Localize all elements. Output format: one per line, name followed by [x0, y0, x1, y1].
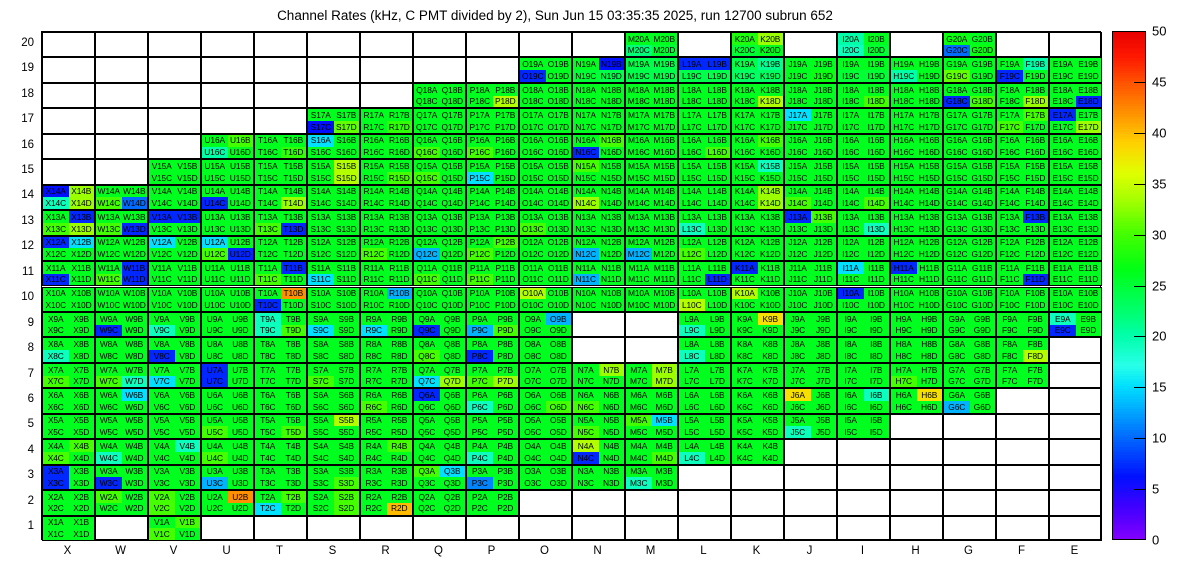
channel-quadrant: S17B	[334, 109, 360, 121]
channel-quadrant: V8B	[175, 338, 201, 350]
channel-quadrant: L18C	[679, 96, 705, 108]
channel-quadrant: X8C	[43, 350, 69, 362]
channel-quadrant: I8C	[838, 350, 864, 362]
channel-quadrant: I13C	[838, 223, 864, 235]
channel-quadrant: W2C	[96, 503, 122, 515]
pmt-cell: S14AS14BS14CS14D	[307, 185, 360, 210]
channel-quadrant: K20C	[732, 45, 758, 57]
channel-quadrant: L8B	[705, 338, 731, 350]
channel-quadrant: V10C	[149, 299, 175, 311]
channel-quadrant: X13C	[43, 223, 69, 235]
channel-quadrant: T10A	[255, 288, 281, 300]
channel-quadrant: K8A	[732, 338, 758, 350]
channel-quadrant: M11D	[652, 274, 678, 286]
channel-quadrant: X6A	[43, 389, 69, 401]
pmt-cell: Q3AQ3BQ3CQ3D	[413, 465, 466, 490]
pmt-cell-empty	[95, 83, 148, 108]
channel-quadrant: V12D	[175, 248, 201, 260]
channel-quadrant: V13D	[175, 223, 201, 235]
channel-quadrant: O9D	[546, 325, 572, 337]
channel-quadrant: L13D	[705, 223, 731, 235]
pmt-cell-empty	[42, 134, 95, 159]
channel-quadrant: J6C	[785, 401, 811, 413]
channel-quadrant: V12C	[149, 248, 175, 260]
channel-quadrant: I14C	[838, 197, 864, 209]
channel-quadrant: V3C	[149, 477, 175, 489]
pmt-cell: V5AV5BV5CV5D	[148, 414, 201, 439]
pmt-cell: E19AE19BE19CE19D	[1049, 57, 1102, 82]
channel-quadrant: H11A	[891, 262, 917, 274]
pmt-cell: F13AF13BF13CF13D	[996, 210, 1049, 235]
channel-quadrant: O15D	[546, 172, 572, 184]
channel-quadrant: E10D	[1076, 299, 1102, 311]
y-axis-tick-2: 2	[0, 495, 34, 507]
channel-quadrant: K8D	[758, 350, 784, 362]
channel-quadrant: V12A	[149, 237, 175, 249]
channel-quadrant: K16C	[732, 147, 758, 159]
channel-quadrant: I10C	[838, 299, 864, 311]
channel-quadrant: K7B	[758, 364, 784, 376]
channel-quadrant: J14A	[785, 186, 811, 198]
channel-quadrant: H16B	[917, 135, 943, 147]
channel-quadrant: J19B	[811, 58, 837, 70]
channel-quadrant: X1C	[43, 528, 69, 540]
pmt-cell-empty	[784, 439, 837, 464]
channel-quadrant: V11D	[175, 274, 201, 286]
channel-quadrant: U10D	[228, 299, 254, 311]
channel-quadrant: G13C	[944, 223, 970, 235]
channel-quadrant: P12C	[467, 248, 493, 260]
channel-quadrant: E10B	[1076, 288, 1102, 300]
channel-quadrant: O17C	[520, 121, 546, 133]
pmt-cell-empty	[996, 439, 1049, 464]
pmt-cell: P18AP18BP18CP18D	[466, 83, 519, 108]
pmt-cell-empty	[572, 490, 625, 515]
channel-quadrant: N5A	[573, 415, 599, 427]
channel-quadrant: L11A	[679, 262, 705, 274]
pmt-cell: M11AM11BM11CM11D	[625, 261, 678, 286]
channel-quadrant: G20A	[944, 33, 970, 45]
channel-quadrant: J9B	[811, 313, 837, 325]
pmt-cell: N12AN12BN12CN12D	[572, 236, 625, 261]
pmt-cell: J18AJ18BJ18CJ18D	[784, 83, 837, 108]
channel-quadrant: U15A	[202, 160, 228, 172]
channel-quadrant: W11A	[96, 262, 122, 274]
channel-quadrant: T10D	[281, 299, 307, 311]
channel-quadrant: U2B	[228, 491, 254, 503]
channel-quadrant: M19D	[652, 70, 678, 82]
pmt-cell: H17AH17BH17CH17D	[890, 108, 943, 133]
pmt-cell: I11AI11BI11CI11D	[837, 261, 890, 286]
channel-quadrant: L7B	[705, 364, 731, 376]
channel-quadrant: X11C	[43, 274, 69, 286]
chart-title: Channel Rates (kHz, C PMT divided by 2),…	[0, 8, 1110, 23]
channel-quadrant: H11C	[891, 274, 917, 286]
channel-quadrant: Q10C	[414, 299, 440, 311]
channel-quadrant: K4D	[758, 452, 784, 464]
pmt-cell: O13AO13BO13CO13D	[519, 210, 572, 235]
channel-quadrant: O6D	[546, 401, 572, 413]
channel-quadrant: L15D	[705, 172, 731, 184]
channel-quadrant: X10B	[69, 288, 95, 300]
pmt-cell: J14AJ14BJ14CJ14D	[784, 185, 837, 210]
channel-quadrant: S10C	[308, 299, 334, 311]
channel-quadrant: P16A	[467, 135, 493, 147]
channel-quadrant: F8C	[997, 350, 1023, 362]
channel-quadrant: G6C	[944, 401, 970, 413]
pmt-cell: R17AR17BR17CR17D	[360, 108, 413, 133]
pmt-cell-empty	[890, 490, 943, 515]
channel-quadrant: Q3A	[414, 466, 440, 478]
channel-quadrant: T8C	[255, 350, 281, 362]
pmt-cell: M20AM20BM20CM20D	[625, 32, 678, 57]
channel-quadrant: L17C	[679, 121, 705, 133]
channel-quadrant: P10D	[493, 299, 519, 311]
pmt-cell-empty	[996, 465, 1049, 490]
channel-quadrant: Q12B	[440, 237, 466, 249]
channel-quadrant: U16D	[228, 147, 254, 159]
channel-quadrant: P12A	[467, 237, 493, 249]
pmt-cell: P10AP10BP10CP10D	[466, 287, 519, 312]
channel-quadrant: V3B	[175, 466, 201, 478]
x-axis-tick-R: R	[359, 545, 412, 557]
x-axis-tick-I: I	[836, 545, 889, 557]
channel-quadrant: P11D	[493, 274, 519, 286]
channel-quadrant: V7A	[149, 364, 175, 376]
channel-quadrant: N10C	[573, 299, 599, 311]
pmt-cell: T5AT5BT5CT5D	[254, 414, 307, 439]
channel-quadrant: Q12A	[414, 237, 440, 249]
channel-quadrant: G13A	[944, 211, 970, 223]
channel-quadrant: I19C	[838, 70, 864, 82]
channel-quadrant: H6D	[917, 401, 943, 413]
channel-quadrant: M4A	[626, 440, 652, 452]
pmt-cell: Q15AQ15BQ15CQ15D	[413, 159, 466, 184]
channel-quadrant: O7B	[546, 364, 572, 376]
channel-quadrant: W10C	[96, 299, 122, 311]
channel-quadrant: N4A	[573, 440, 599, 452]
channel-quadrant: U6B	[228, 389, 254, 401]
channel-quadrant: N19B	[599, 58, 625, 70]
channel-quadrant: R9B	[387, 313, 413, 325]
channel-quadrant: O3C	[520, 477, 546, 489]
channel-quadrant: F9C	[997, 325, 1023, 337]
channel-quadrant: P11C	[467, 274, 493, 286]
channel-quadrant: N12D	[599, 248, 625, 260]
y-axis-tick-19: 19	[0, 62, 34, 74]
channel-quadrant: R11B	[387, 262, 413, 274]
channel-quadrant: G16C	[944, 147, 970, 159]
channel-quadrant: S2B	[334, 491, 360, 503]
channel-quadrant: N7B	[599, 364, 625, 376]
pmt-cell: T12AT12BT12CT12D	[254, 236, 307, 261]
channel-quadrant: R8D	[387, 350, 413, 362]
channel-quadrant: S14B	[334, 186, 360, 198]
channel-quadrant: P13B	[493, 211, 519, 223]
channel-quadrant: G15A	[944, 160, 970, 172]
y-axis-tick-11: 11	[0, 266, 34, 278]
channel-quadrant: G10B	[970, 288, 996, 300]
channel-quadrant: J17D	[811, 121, 837, 133]
channel-quadrant: X12C	[43, 248, 69, 260]
channel-quadrant: N13D	[599, 223, 625, 235]
pmt-cell: G6AG6BG6CG6D	[943, 388, 996, 413]
channel-quadrant: H15C	[891, 172, 917, 184]
channel-quadrant: K12B	[758, 237, 784, 249]
channel-quadrant: R17A	[361, 109, 387, 121]
pmt-cell: Q6AQ6BQ6CQ6D	[413, 388, 466, 413]
channel-quadrant: I18A	[838, 84, 864, 96]
channel-quadrant: K20A	[732, 33, 758, 45]
channel-quadrant: F8A	[997, 338, 1023, 350]
channel-quadrant: V15C	[149, 172, 175, 184]
pmt-cell: T15AT15BT15CT15D	[254, 159, 307, 184]
channel-quadrant: X2A	[43, 491, 69, 503]
channel-quadrant: U16B	[228, 135, 254, 147]
channel-quadrant: V1C	[149, 528, 175, 540]
channel-quadrant: H10A	[891, 288, 917, 300]
channel-quadrant: R10A	[361, 288, 387, 300]
channel-quadrant: U4D	[228, 452, 254, 464]
channel-quadrant: E17A	[1050, 109, 1076, 121]
pmt-cell: J5AJ5BJ5CJ5D	[784, 414, 837, 439]
pmt-cell: R6AR6BR6CR6D	[360, 388, 413, 413]
channel-quadrant: W8A	[96, 338, 122, 350]
channel-quadrant: L19B	[705, 58, 731, 70]
pmt-cell: M14AM14BM14CM14D	[625, 185, 678, 210]
channel-quadrant: W3C	[96, 477, 122, 489]
channel-quadrant: G7A	[944, 364, 970, 376]
channel-quadrant: G7C	[944, 376, 970, 388]
channel-quadrant: V1A	[149, 517, 175, 529]
pmt-cell: Q8AQ8BQ8CQ8D	[413, 337, 466, 362]
channel-quadrant: P10B	[493, 288, 519, 300]
pmt-cell-empty	[360, 32, 413, 57]
pmt-cell: P17AP17BP17CP17D	[466, 108, 519, 133]
channel-quadrant: U6D	[228, 401, 254, 413]
channel-quadrant: O16A	[520, 135, 546, 147]
channel-quadrant: L11B	[705, 262, 731, 274]
channel-quadrant: N5B	[599, 415, 625, 427]
channel-quadrant: J8C	[785, 350, 811, 362]
channel-quadrant: V5A	[149, 415, 175, 427]
channel-quadrant: T16A	[255, 135, 281, 147]
channel-quadrant: M3C	[626, 477, 652, 489]
pmt-cell: I17AI17BI17CI17D	[837, 108, 890, 133]
channel-quadrant: L8A	[679, 338, 705, 350]
channel-quadrant: H17D	[917, 121, 943, 133]
channel-quadrant: Q6D	[440, 401, 466, 413]
channel-quadrant: N19A	[573, 58, 599, 70]
colorbar-tick	[1134, 387, 1146, 388]
pmt-cell-empty	[784, 32, 837, 57]
channel-quadrant: M18C	[626, 96, 652, 108]
pmt-cell: K19AK19BK19CK19D	[731, 57, 784, 82]
channel-quadrant: L5D	[705, 426, 731, 438]
channel-quadrant: R14A	[361, 186, 387, 198]
channel-quadrant: U13C	[202, 223, 228, 235]
channel-quadrant: Q3D	[440, 477, 466, 489]
channel-quadrant: E9B	[1076, 313, 1102, 325]
channel-quadrant: Q8D	[440, 350, 466, 362]
channel-quadrant: W4C	[96, 452, 122, 464]
x-axis-tick-X: X	[41, 545, 94, 557]
colorbar-label-0: 0	[1152, 533, 1159, 548]
channel-quadrant: V10B	[175, 288, 201, 300]
channel-quadrant: H18A	[891, 84, 917, 96]
channel-quadrant: T2A	[255, 491, 281, 503]
channel-quadrant: T9D	[281, 325, 307, 337]
channel-quadrant: L9C	[679, 325, 705, 337]
channel-quadrant: R2D	[387, 503, 413, 515]
pmt-cell-empty	[95, 159, 148, 184]
channel-quadrant: R7A	[361, 364, 387, 376]
pmt-cell-empty	[678, 465, 731, 490]
pmt-cell: E10AE10BE10CE10D	[1049, 287, 1102, 312]
channel-quadrant: V2D	[175, 503, 201, 515]
pmt-cell: V14AV14BV14CV14D	[148, 185, 201, 210]
pmt-cell: L6AL6BL6CL6D	[678, 388, 731, 413]
channel-quadrant: T3B	[281, 466, 307, 478]
channel-quadrant: E16B	[1076, 135, 1102, 147]
pmt-cell: K16AK16BK16CK16D	[731, 134, 784, 159]
channel-quadrant: V14A	[149, 186, 175, 198]
channel-quadrant: H14B	[917, 186, 943, 198]
channel-quadrant: Q7D	[440, 376, 466, 388]
channel-quadrant: R8B	[387, 338, 413, 350]
channel-quadrant: O13A	[520, 211, 546, 223]
pmt-cell: P11AP11BP11CP11D	[466, 261, 519, 286]
pmt-cell: L18AL18BL18CL18D	[678, 83, 731, 108]
channel-quadrant: S17D	[334, 121, 360, 133]
channel-quadrant: L17B	[705, 109, 731, 121]
channel-quadrant: E18B	[1076, 84, 1102, 96]
channel-quadrant: P7A	[467, 364, 493, 376]
channel-quadrant: H16A	[891, 135, 917, 147]
channel-quadrant: S3C	[308, 477, 334, 489]
channel-quadrant: M15A	[626, 160, 652, 172]
channel-quadrant: Q3C	[414, 477, 440, 489]
pmt-cell-empty	[466, 516, 519, 541]
channel-quadrant: U11B	[228, 262, 254, 274]
pmt-cell-empty	[360, 57, 413, 82]
channel-quadrant: W7C	[96, 376, 122, 388]
pmt-cell: L17AL17BL17CL17D	[678, 108, 731, 133]
pmt-cell: N4AN4BN4CN4D	[572, 439, 625, 464]
channel-quadrant: L19A	[679, 58, 705, 70]
pmt-cell-empty	[201, 516, 254, 541]
x-axis-tick-E: E	[1048, 545, 1101, 557]
channel-quadrant: R5C	[361, 426, 387, 438]
channel-quadrant: K9A	[732, 313, 758, 325]
pmt-cell: S6AS6BS6CS6D	[307, 388, 360, 413]
pmt-cell: P16AP16BP16CP16D	[466, 134, 519, 159]
channel-quadrant: E14A	[1050, 186, 1076, 198]
channel-quadrant: S6D	[334, 401, 360, 413]
channel-quadrant: K4B	[758, 440, 784, 452]
channel-quadrant: W4A	[96, 440, 122, 452]
channel-quadrant: R12A	[361, 237, 387, 249]
pmt-cell: U13AU13BU13CU13D	[201, 210, 254, 235]
pmt-cell: U3AU3BU3CU3D	[201, 465, 254, 490]
pmt-cell: P9AP9BP9CP9D	[466, 312, 519, 337]
channel-quadrant: I18B	[864, 84, 890, 96]
channel-quadrant: E11A	[1050, 262, 1076, 274]
pmt-cell: M4AM4BM4CM4D	[625, 439, 678, 464]
channel-quadrant: M7C	[626, 376, 652, 388]
channel-quadrant: S3B	[334, 466, 360, 478]
channel-quadrant: H14C	[891, 197, 917, 209]
channel-quadrant: R12C	[361, 248, 387, 260]
channel-quadrant: M20B	[652, 33, 678, 45]
channel-quadrant: V10D	[175, 299, 201, 311]
channel-quadrant: M7B	[652, 364, 678, 376]
channel-quadrant: U5C	[202, 426, 228, 438]
channel-quadrant: O4B	[546, 440, 572, 452]
channel-quadrant: T10B	[281, 288, 307, 300]
channel-quadrant: I9A	[838, 313, 864, 325]
channel-quadrant: L10A	[679, 288, 705, 300]
pmt-cell: O17AO17BO17CO17D	[519, 108, 572, 133]
channel-quadrant: N3C	[573, 477, 599, 489]
channel-quadrant: X6C	[43, 401, 69, 413]
channel-quadrant: O3A	[520, 466, 546, 478]
channel-quadrant: J5A	[785, 415, 811, 427]
channel-quadrant: S16C	[308, 147, 334, 159]
channel-quadrant: W14D	[122, 197, 148, 209]
channel-quadrant: R10D	[387, 299, 413, 311]
pmt-cell: H7AH7BH7CH7D	[890, 363, 943, 388]
channel-quadrant: M16C	[626, 147, 652, 159]
channel-quadrant: H17C	[891, 121, 917, 133]
channel-quadrant: S10B	[334, 288, 360, 300]
pmt-cell: O7AO7BO7CO7D	[519, 363, 572, 388]
channel-quadrant: S16A	[308, 135, 334, 147]
channel-quadrant: M11B	[652, 262, 678, 274]
channel-quadrant: M14A	[626, 186, 652, 198]
channel-quadrant: S15B	[334, 160, 360, 172]
pmt-cell: M18AM18BM18CM18D	[625, 83, 678, 108]
y-axis-tick-16: 16	[0, 139, 34, 151]
channel-quadrant: Q5B	[440, 415, 466, 427]
channel-quadrant: L16C	[679, 147, 705, 159]
channel-quadrant: N3A	[573, 466, 599, 478]
colorbar-label-40: 40	[1152, 125, 1166, 140]
pmt-cell: O5AO5BO5CO5D	[519, 414, 572, 439]
channel-quadrant: U14D	[228, 197, 254, 209]
pmt-cell-empty	[943, 516, 996, 541]
channel-quadrant: F19A	[997, 58, 1023, 70]
channel-quadrant: Q15C	[414, 172, 440, 184]
channel-quadrant: E9D	[1076, 325, 1102, 337]
channel-quadrant: L14C	[679, 197, 705, 209]
pmt-cell: T3AT3BT3CT3D	[254, 465, 307, 490]
pmt-cell-empty	[943, 490, 996, 515]
pmt-cell-empty	[678, 516, 731, 541]
channel-quadrant: Q6C	[414, 401, 440, 413]
channel-quadrant: V14D	[175, 197, 201, 209]
channel-quadrant: G17C	[944, 121, 970, 133]
channel-quadrant: J6A	[785, 389, 811, 401]
channel-quadrant: T4B	[281, 440, 307, 452]
y-axis-tick-1: 1	[0, 520, 34, 532]
channel-quadrant: N15A	[573, 160, 599, 172]
channel-quadrant: K11B	[758, 262, 784, 274]
pmt-cell: H14AH14BH14CH14D	[890, 185, 943, 210]
channel-quadrant: G18C	[944, 96, 970, 108]
channel-quadrant: I11C	[838, 274, 864, 286]
pmt-cell: N13AN13BN13CN13D	[572, 210, 625, 235]
